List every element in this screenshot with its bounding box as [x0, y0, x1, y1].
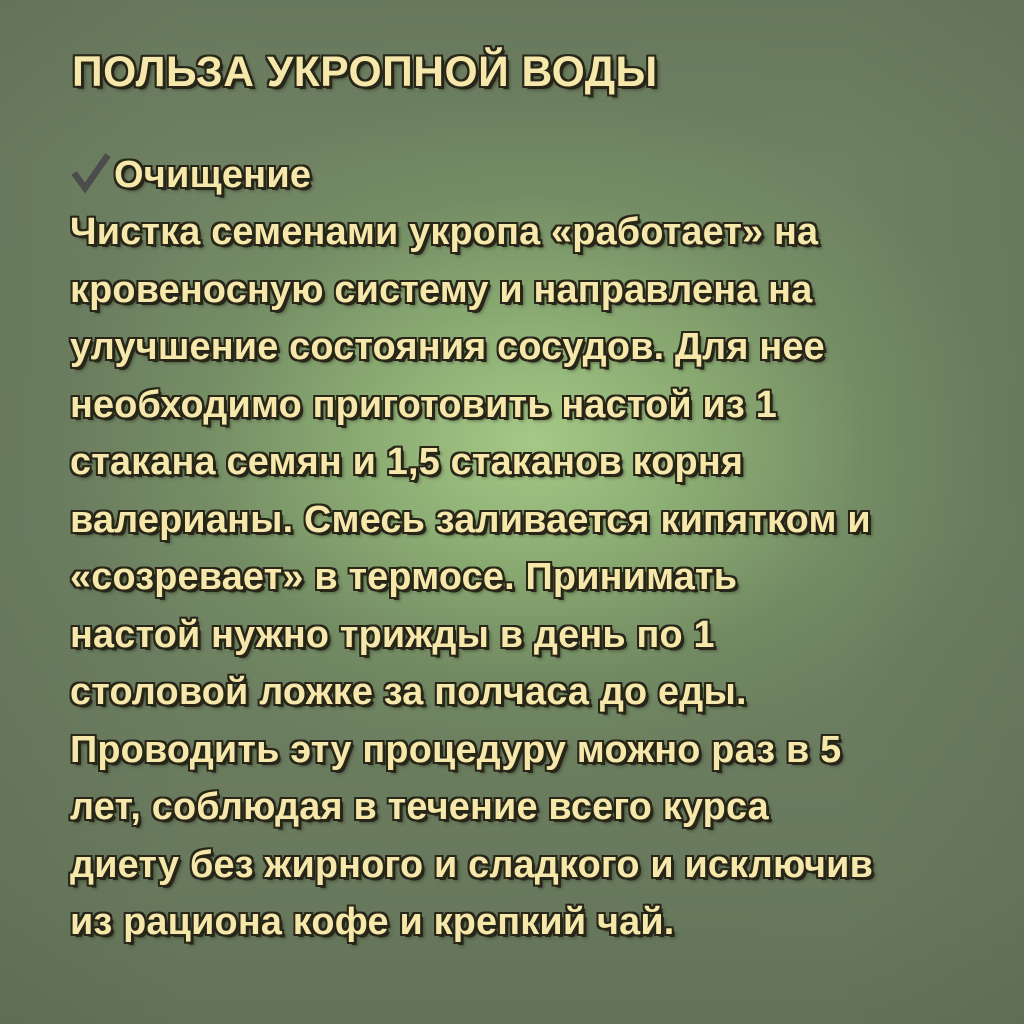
body-line: из рациона кофе и крепкий чай. — [70, 894, 964, 952]
body-line: валерианы. Смесь заливается кипятком и — [70, 492, 964, 550]
body-line: «созревает» в термосе. Принимать — [70, 549, 964, 607]
body-line: столовой ложке за полчаса до еды. — [70, 664, 964, 722]
page-title: ПОЛЬЗА УКРОПНОЙ ВОДЫ — [72, 46, 959, 98]
infographic-card: ПОЛЬЗА УКРОПНОЙ ВОДЫ Очищение Чистка сем… — [0, 0, 1024, 1024]
body-line: лет, соблюдая в течение всего курса — [70, 779, 964, 837]
section-heading-label: Очищение — [114, 152, 311, 198]
body-line: необходимо приготовить настой из 1 — [70, 377, 964, 435]
body-line: Проводить эту процедуру можно раз в 5 — [70, 722, 964, 780]
body-line: Чистка семенами укропа «работает» на — [70, 204, 964, 262]
section-heading-row: Очищение — [70, 152, 968, 198]
check-mark-icon — [70, 151, 112, 195]
card-content: ПОЛЬЗА УКРОПНОЙ ВОДЫ Очищение Чистка сем… — [0, 0, 1024, 952]
body-line: улучшение состояния сосудов. Для нее — [70, 319, 964, 377]
body-line: настой нужно трижды в день по 1 — [70, 607, 964, 665]
body-line: кровеносную систему и направлена на — [70, 262, 964, 320]
body-line: диету без жирного и сладкого и исключив — [70, 837, 964, 895]
body-text-block: Чистка семенами укропа «работает» на кро… — [70, 204, 968, 952]
body-line: стакана семян и 1,5 стаканов корня — [70, 434, 964, 492]
